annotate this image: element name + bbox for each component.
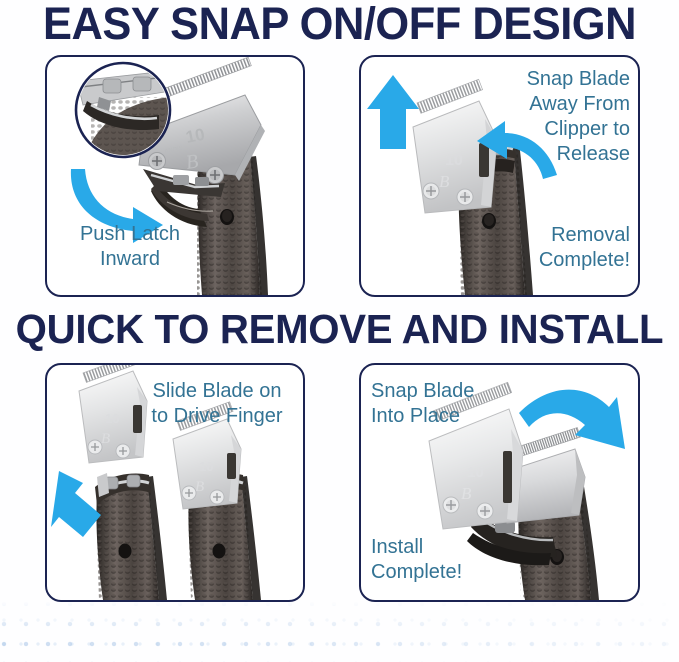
panel-4-caption-bottom: Install Complete!: [371, 535, 521, 585]
page-title-middle: QUICK TO REMOVE AND INSTALL: [7, 306, 672, 353]
clipper-body-left: [93, 473, 167, 600]
step-panel-slide-blade: 10 B: [45, 363, 305, 602]
panel-3-caption: Slide Blade on to Drive Finger: [137, 379, 297, 429]
blade-screw-left: [149, 153, 166, 170]
straight-arrow-up-icon: [367, 75, 419, 149]
svg-text:10: 10: [199, 459, 213, 474]
svg-text:B: B: [439, 172, 450, 191]
blade-screw-right: [457, 189, 473, 205]
infographic-canvas: EASY SNAP ON/OFF DESIGN: [0, 0, 679, 662]
svg-text:10: 10: [467, 464, 484, 481]
blade-screw-right: [477, 503, 493, 519]
step-panel-snap-into-place: 10 B Snap Blade Into Place Install Com: [359, 363, 640, 602]
svg-text:10: 10: [184, 125, 206, 147]
panel-2-caption-bottom: Removal Complete!: [462, 223, 630, 273]
blade-screw-right: [207, 167, 224, 184]
svg-text:B: B: [461, 484, 472, 503]
step-panel-push-latch: 10 ANDIS B: [45, 55, 305, 297]
step-panel-snap-blade-away: 10 B Snap Bl: [359, 55, 640, 297]
straight-arrow-down-left-icon: [51, 471, 101, 537]
page-title-top: EASY SNAP ON/OFF DESIGN: [12, 0, 667, 50]
blade-screw-left: [423, 183, 439, 199]
svg-text:10: 10: [105, 411, 119, 426]
decorative-dot-pattern: [0, 600, 679, 662]
blade-screw-left: [443, 497, 459, 513]
panel-4-caption-top: Snap Blade Into Place: [371, 379, 521, 429]
svg-text:B: B: [101, 431, 110, 447]
panel-2-caption-top: Snap Blade Away From Clipper to Release: [462, 67, 630, 167]
svg-text:10: 10: [445, 152, 463, 169]
panel-1-caption: Push Latch Inward: [55, 222, 205, 272]
